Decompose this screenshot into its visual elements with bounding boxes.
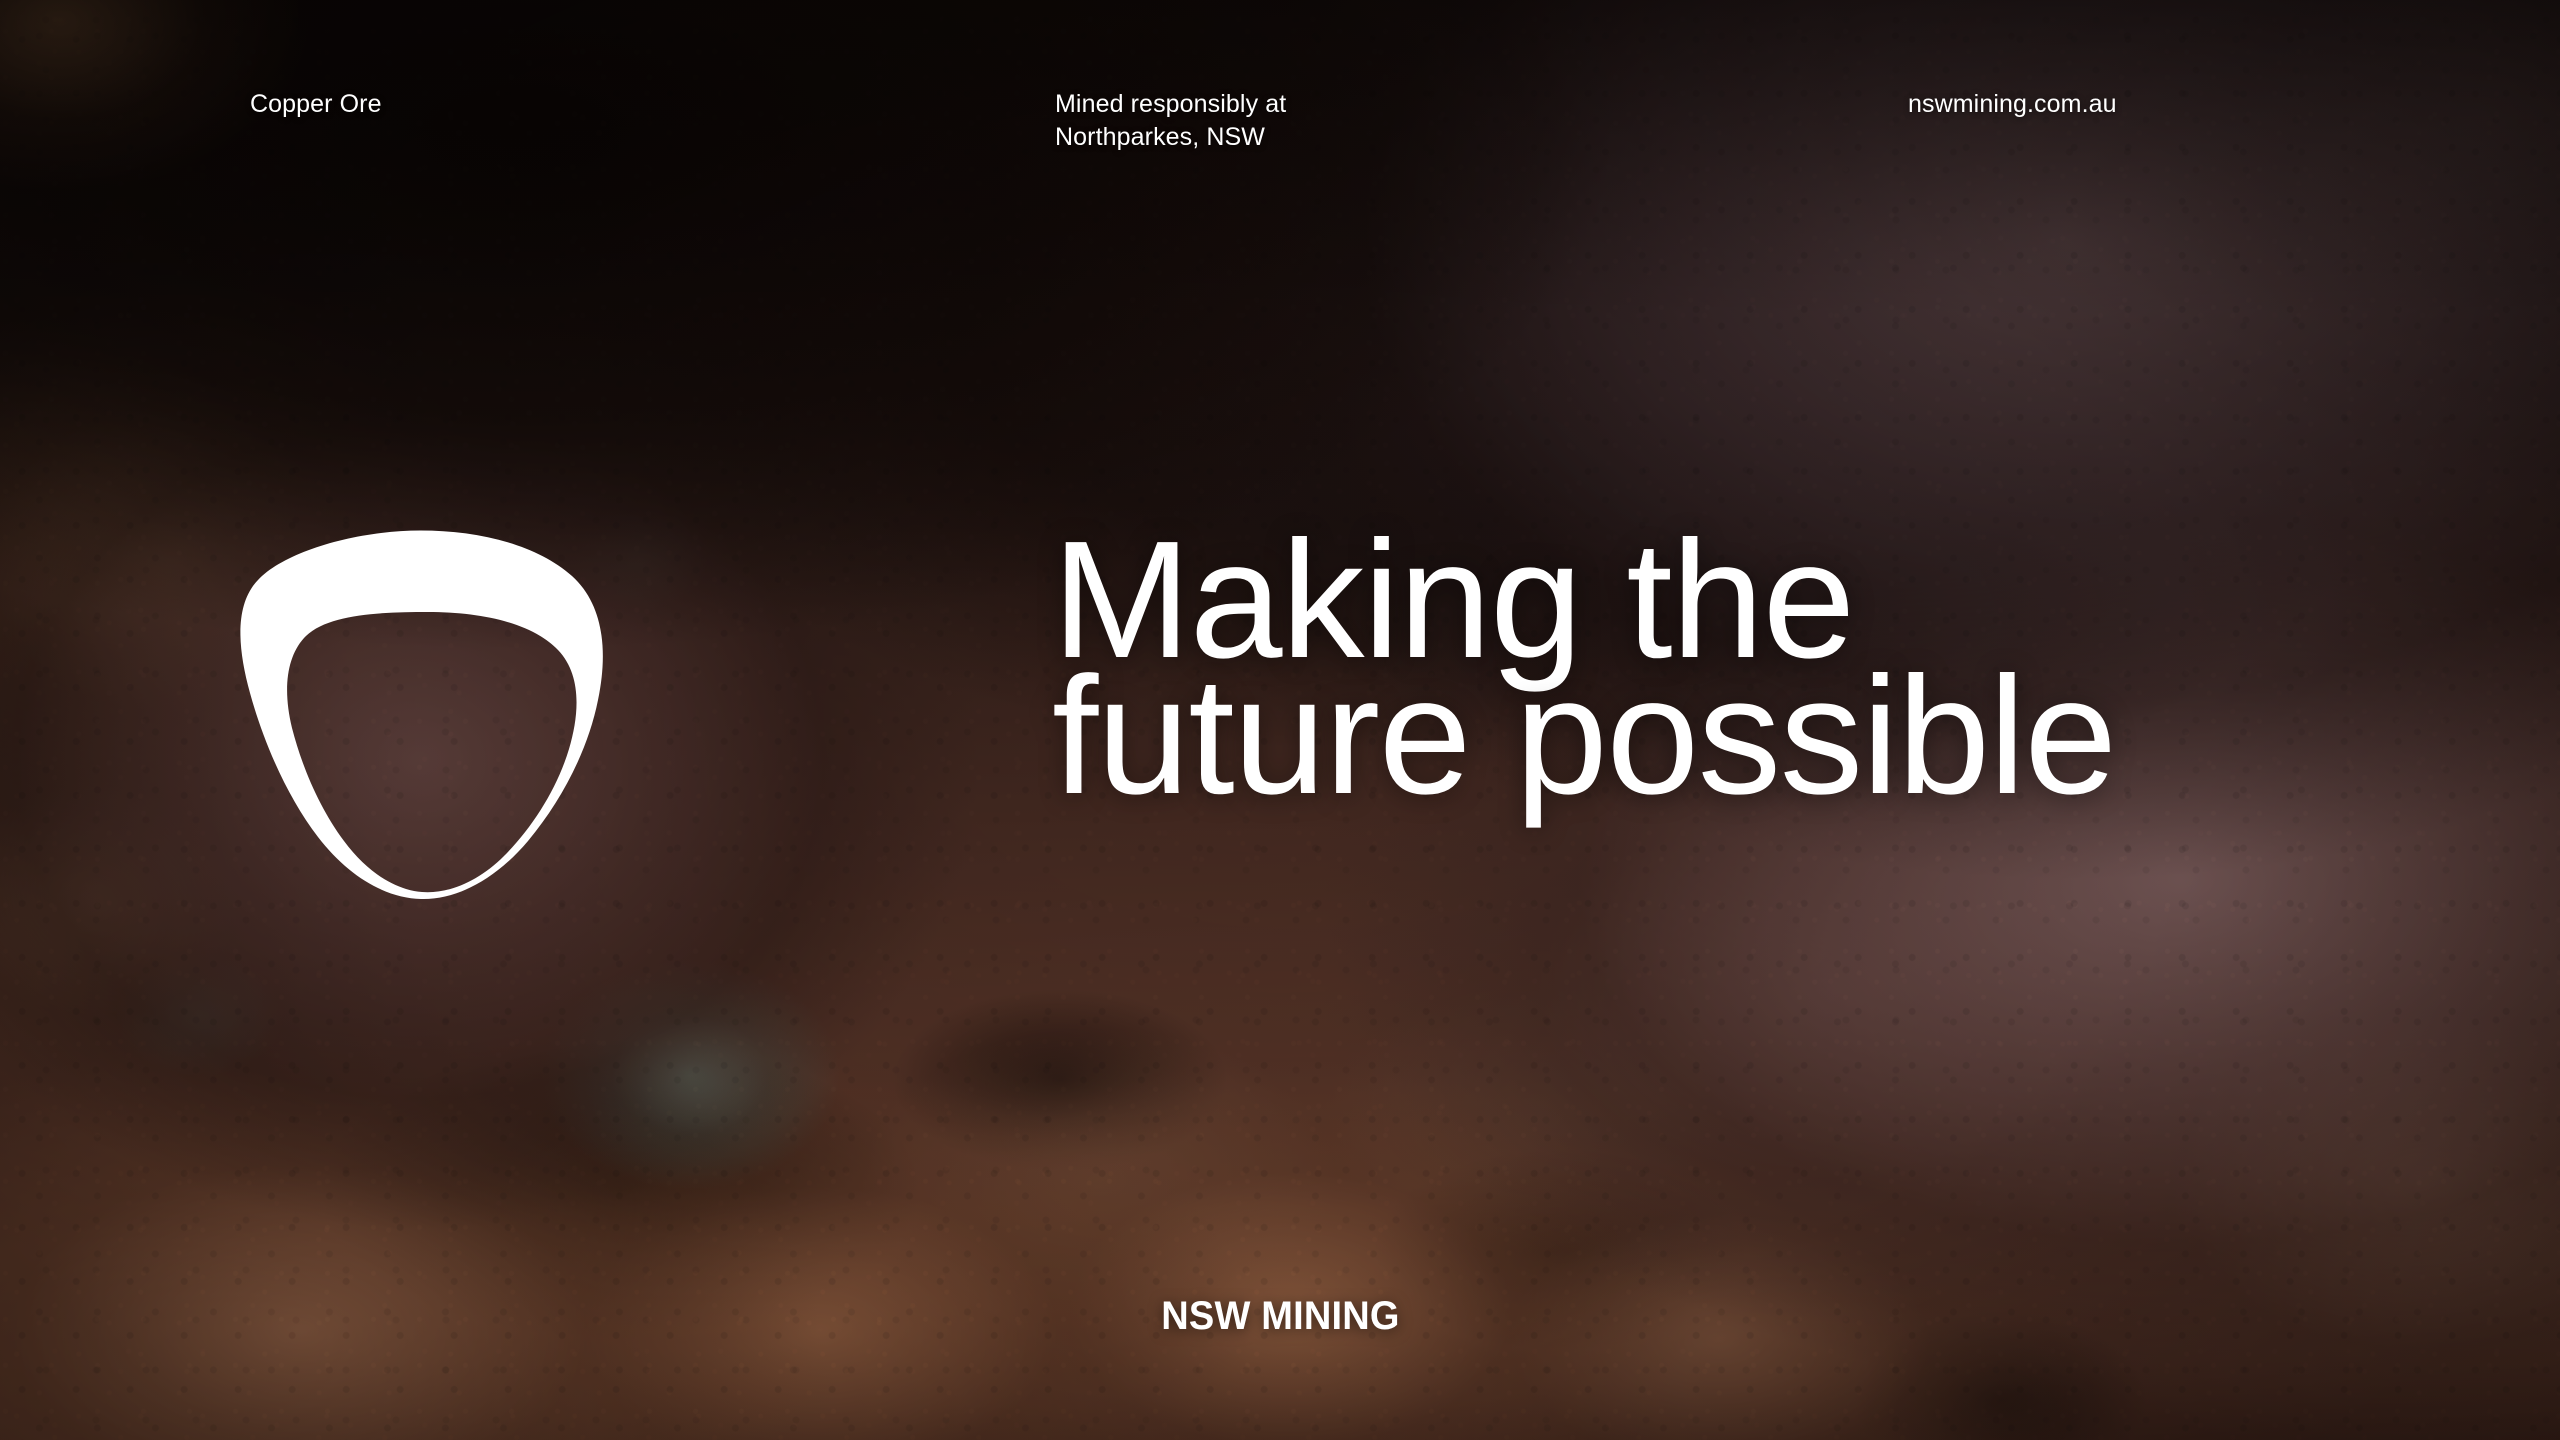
nsw-mining-wordmark: NSW MINING (0, 1296, 2560, 1336)
nsw-mining-logo-mark (232, 528, 608, 900)
wordmark-text: NSW MINING (1161, 1296, 1399, 1336)
caption-website-url[interactable]: nswmining.com.au (1908, 88, 2117, 121)
advertisement-canvas: Copper Ore Mined responsibly at Northpar… (0, 0, 2560, 1440)
hero-headline: Making the future possible (1052, 540, 2472, 798)
headline-line-2: future possible (1052, 676, 2472, 798)
nsw-mining-trefoil-icon (232, 528, 608, 900)
caption-provenance: Mined responsibly at Northparkes, NSW (1055, 88, 1286, 155)
caption-header-row: Copper Ore Mined responsibly at Northpar… (0, 0, 2560, 180)
caption-material-name: Copper Ore (250, 88, 382, 121)
